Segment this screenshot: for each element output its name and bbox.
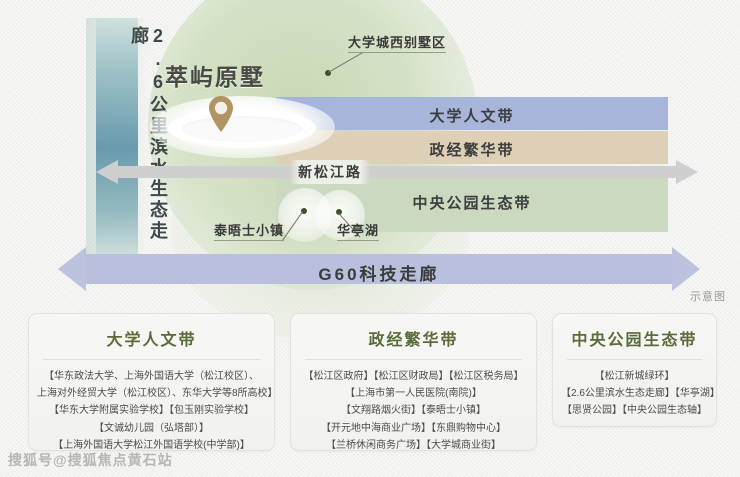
road-label: 新松江路 bbox=[290, 160, 370, 184]
band-label-economic: 政经繁华带 bbox=[276, 139, 668, 160]
card-title-park: 中央公园生态带 bbox=[553, 314, 716, 359]
watermark-label: 搜狐号@搜狐焦点黄石站 bbox=[8, 450, 173, 470]
g60-arrow-right bbox=[672, 247, 700, 291]
card-university-humanities: 大学人文带 【华东政法大学、上海外国语大学（松江校区）、 上海对外经贸大学（松江… bbox=[28, 313, 275, 451]
card-body-park: 【松江新城绿环】 【2.6公里滨水生态走廊】【华亭湖】 【思贤公园】【中央公园生… bbox=[553, 360, 716, 420]
card-title-economic: 政经繁华带 bbox=[291, 314, 536, 359]
card-central-park-eco: 中央公园生态带 【松江新城绿环】 【2.6公里滨水生态走廊】【华亭湖】 【思贤公… bbox=[552, 313, 717, 427]
card-line: 【文翔路烟火街】【泰晤士小镇】 bbox=[299, 402, 528, 419]
callout-label-thames-town: 泰晤士小镇 bbox=[214, 220, 284, 241]
map-pin-icon bbox=[208, 95, 234, 133]
card-body-economic: 【松江区政府】【松江区财政局】【松江区税务局】 【上海市第一人民医院(南院)】 … bbox=[291, 360, 536, 454]
zone-cards-section: 大学人文带 【华东政法大学、上海外国语大学（松江校区）、 上海对外经贸大学（松江… bbox=[0, 313, 740, 463]
callout-label-huating-lake: 华亭湖 bbox=[337, 220, 379, 241]
g60-arrow-left bbox=[58, 247, 86, 291]
card-line: 【兰桥休闲商务广场】【大学城商业街】 bbox=[299, 437, 528, 454]
card-political-economic: 政经繁华带 【松江区政府】【松江区财政局】【松江区税务局】 【上海市第一人民医院… bbox=[290, 313, 537, 451]
band-label-university: 大学人文带 bbox=[276, 105, 668, 126]
g60-corridor-label: G60科技走廊 bbox=[86, 260, 672, 285]
site-map-diagram: 2.6公里滨水生态走廊 萃屿原墅 大学人文带 政经繁华带 中央公园生态带 新松江… bbox=[0, 0, 740, 308]
card-body-university: 【华东政法大学、上海外国语大学（松江校区）、 上海对外经贸大学（松江校区）、东华… bbox=[29, 360, 274, 454]
card-line: 【2.6公里滨水生态走廊】【华亭湖】 bbox=[561, 385, 708, 402]
waterfront-corridor-strip bbox=[96, 18, 138, 268]
card-title-university: 大学人文带 bbox=[29, 314, 274, 359]
road-arrow-left bbox=[96, 160, 118, 184]
card-line: 【华东大学附属实验学校】【包玉刚实验学校】 bbox=[37, 402, 266, 419]
card-line: 上海对外经贸大学（松江校区）、东华大学等8所高校】 bbox=[37, 385, 266, 402]
road-bar bbox=[118, 166, 678, 178]
card-line: 【松江新城绿环】 bbox=[561, 368, 708, 385]
card-line: 【松江区政府】【松江区财政局】【松江区税务局】 bbox=[299, 368, 528, 385]
project-name-label: 萃屿原墅 bbox=[165, 58, 265, 92]
card-line: 【文诚幼儿园（弘塔部）】 bbox=[37, 420, 266, 437]
diagram-disclaimer: 示意图 bbox=[690, 288, 726, 304]
road-arrow-right bbox=[676, 160, 698, 184]
card-line: 【开元地中海商业广场】【东鼎购物中心】 bbox=[299, 420, 528, 437]
callout-label-villa-district: 大学城西别墅区 bbox=[348, 32, 446, 53]
card-line: 【思贤公园】【中央公园生态轴】 bbox=[561, 402, 708, 419]
card-line: 【华东政法大学、上海外国语大学（松江校区）、 bbox=[37, 368, 266, 385]
card-line: 【上海市第一人民医院(南院)】 bbox=[299, 385, 528, 402]
